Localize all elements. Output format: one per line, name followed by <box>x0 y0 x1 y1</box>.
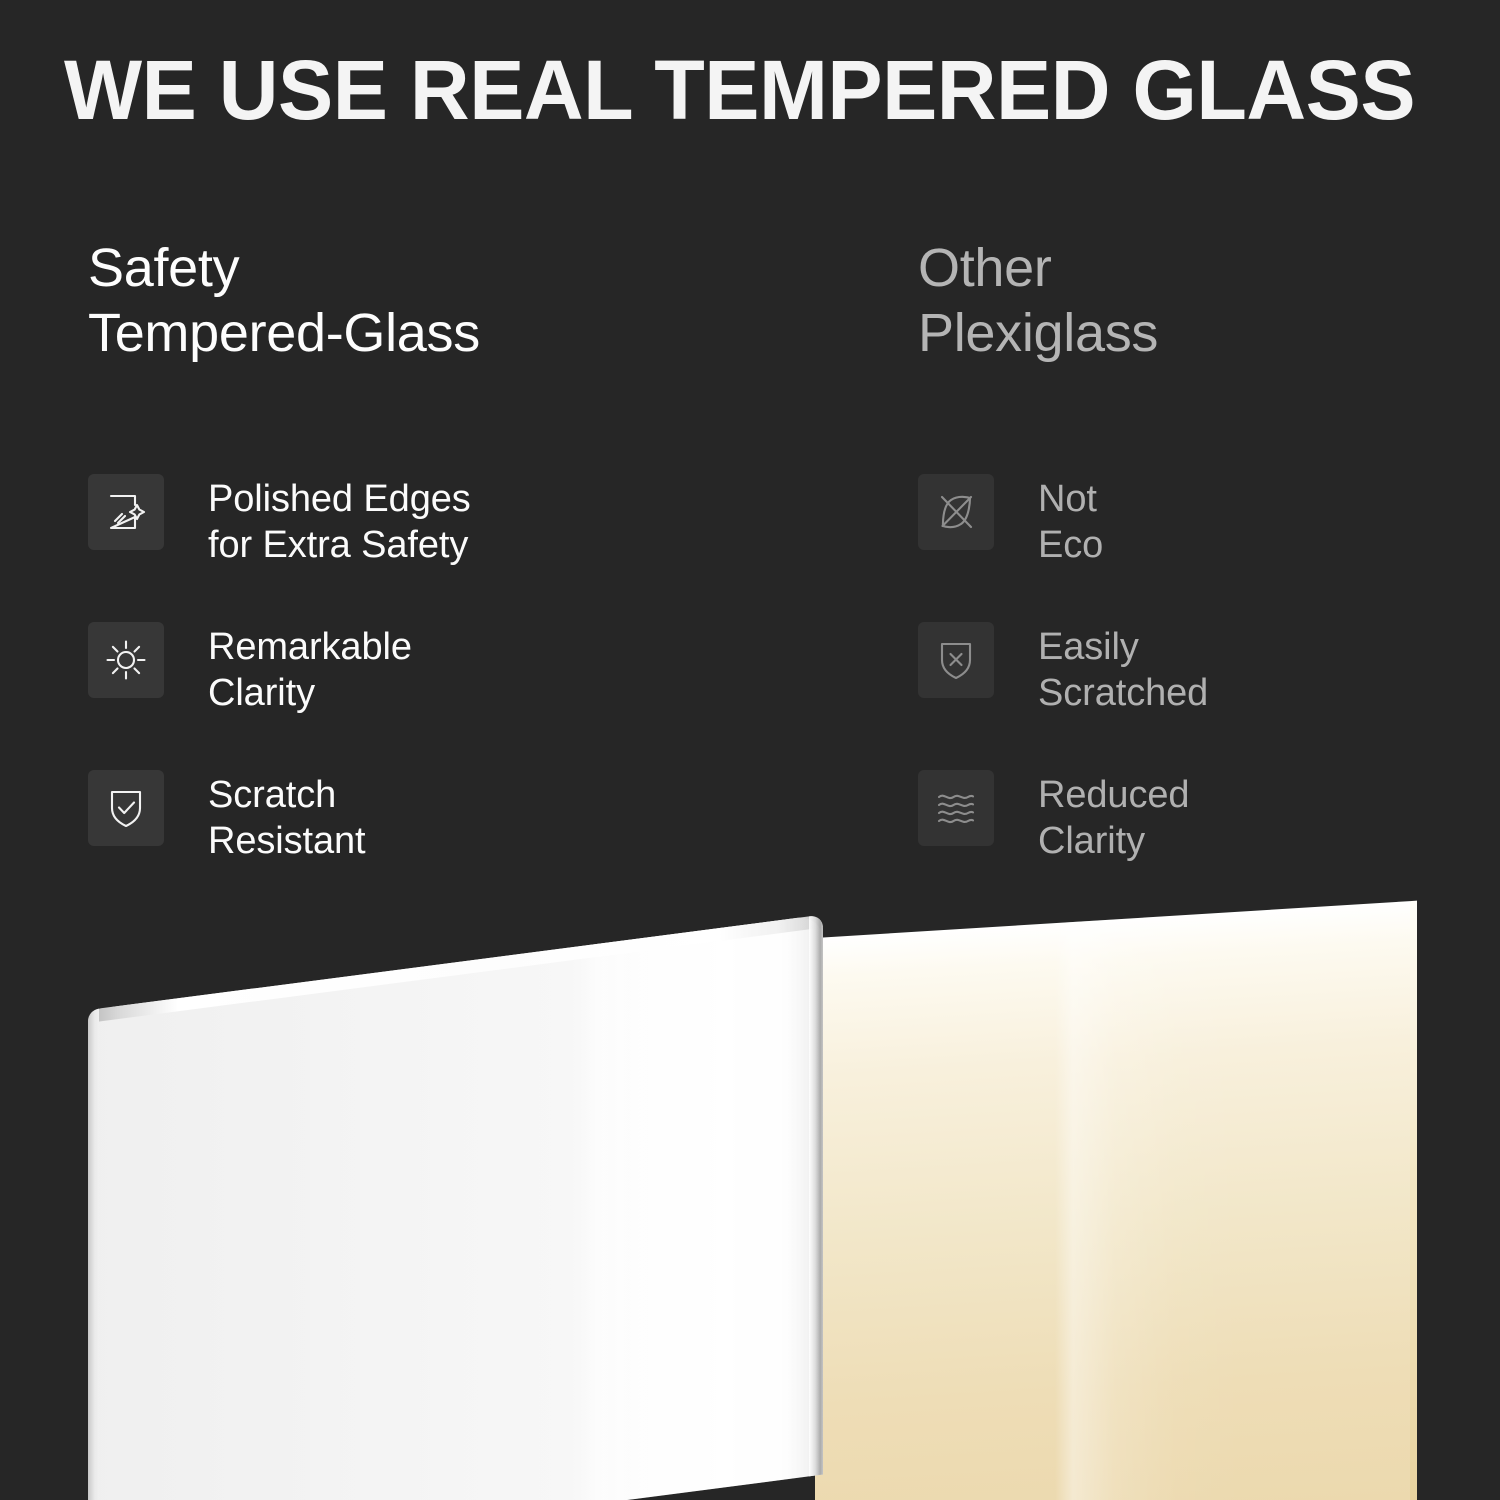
feature-row: Not Eco <box>918 468 1478 616</box>
leaf-crossed-out-icon <box>918 474 994 550</box>
shield-x-icon <box>918 622 994 698</box>
feature-row: Easily Scratched <box>918 616 1478 764</box>
product-photo-area <box>0 870 1500 1500</box>
feature-label: Scratch Resistant <box>208 764 366 864</box>
shield-check-icon <box>88 770 164 846</box>
page-title: WE USE REAL TEMPERED GLASS <box>64 42 1433 138</box>
comparison-section: Safety Tempered-Glass Polished Edges for… <box>0 236 1500 876</box>
feature-row: Remarkable Clarity <box>88 616 868 764</box>
feature-label: Easily Scratched <box>1038 616 1208 716</box>
feature-list-plexiglass: Not Eco Easily Scratched <box>918 468 1478 912</box>
plexiglass-reflection <box>815 901 1410 1500</box>
column-heading-plexiglass: Other Plexiglass <box>918 236 1478 366</box>
comparison-column-plexiglass: Other Plexiglass Not Eco <box>918 236 1478 366</box>
polished-glass-panel-icon <box>88 474 164 550</box>
feature-label: Reduced Clarity <box>1038 764 1189 864</box>
feature-label: Polished Edges for Extra Safety <box>208 468 471 568</box>
glass-polished-left-edge <box>88 1009 99 1500</box>
column-heading-tempered-glass: Safety Tempered-Glass <box>88 236 868 366</box>
glass-reflection <box>88 915 823 1500</box>
sun-brightness-icon <box>88 622 164 698</box>
wavy-lines-icon <box>918 770 994 846</box>
feature-label: Not Eco <box>1038 468 1103 568</box>
feature-row: Polished Edges for Extra Safety <box>88 468 868 616</box>
feature-label: Remarkable Clarity <box>208 616 412 716</box>
comparison-column-tempered-glass: Safety Tempered-Glass Polished Edges for… <box>88 236 868 366</box>
feature-list-tempered-glass: Polished Edges for Extra Safety Remarkab… <box>88 468 868 912</box>
